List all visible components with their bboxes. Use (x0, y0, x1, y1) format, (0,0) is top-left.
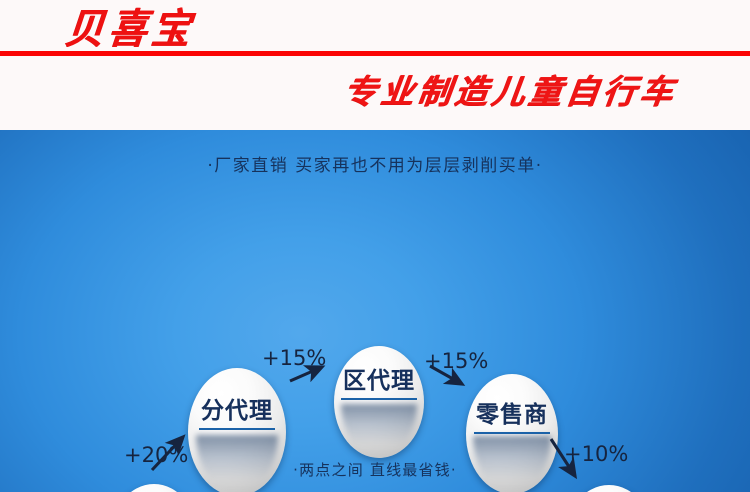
header-divider-rule (0, 51, 750, 56)
node-district-agent: 区代理 (334, 346, 424, 458)
caption-bottom: ·两点之间 直线最省钱· (0, 459, 750, 480)
arrow-sub-agent-to-district-agent (288, 360, 336, 386)
header-slogan: 专业制造儿童自行车 (342, 72, 680, 112)
node-district-agent-label: 区代理 (343, 368, 415, 394)
node-retailer-label: 零售商 (476, 402, 548, 428)
node-sub-agent-label: 分代理 (201, 398, 273, 424)
distribution-diagram: ·厂家直销 买家再也不用为层层剥削买单· 厂商 分代理 区代理 零售商 买家 +… (0, 130, 750, 492)
node-manufacturer: 厂商 (108, 484, 200, 492)
promo-banner: 贝喜宝 专业制造儿童自行车 ·厂家直销 买家再也不用为层层剥削买单· 厂商 分代… (0, 0, 750, 492)
arrow-district-agent-to-retailer (428, 362, 476, 394)
caption-top: ·厂家直销 买家再也不用为层层剥削买单· (0, 151, 750, 176)
brand-logo: 贝喜宝 (64, 6, 198, 51)
banner-header: 贝喜宝 专业制造儿童自行车 (0, 0, 750, 130)
